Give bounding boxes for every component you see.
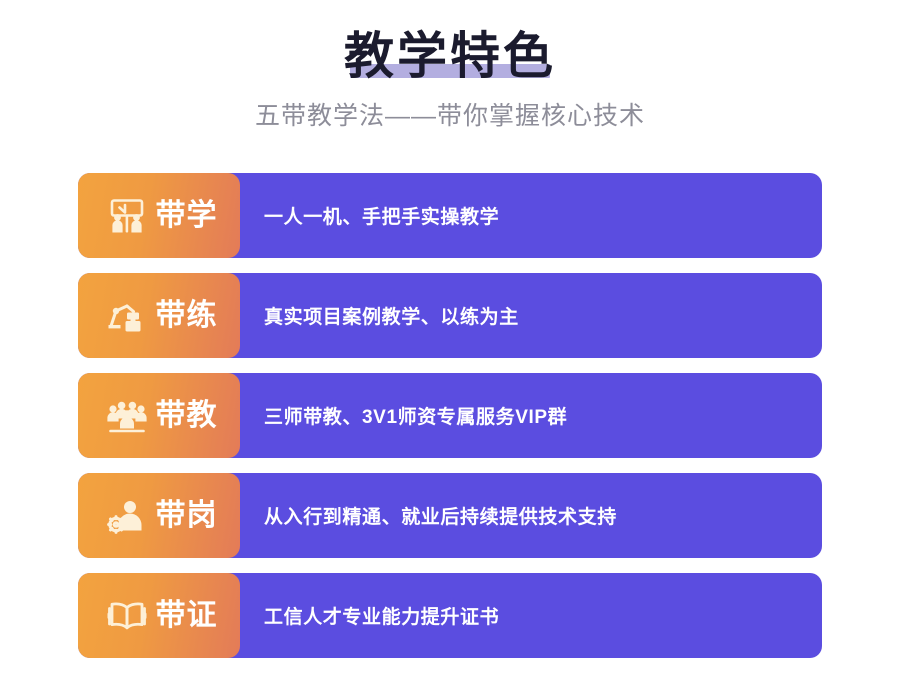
feature-row[interactable]: 三师带教、3V1师资专属服务VIP群 [78,373,822,458]
page-title-wrap: 教学特色 [344,28,556,84]
robot-arm-icon [105,294,149,338]
feature-badge-label: 带练 [156,301,218,331]
feature-list: 一人一机、手把手实操教学 [78,173,822,658]
feature-description: 工信人才专业能力提升证书 [264,573,499,658]
feature-row[interactable]: 从入行到精通、就业后持续提供技术支持 [78,473,822,558]
feature-row[interactable]: 真实项目案例教学、以练为主 [78,273,822,358]
feature-badge-label: 带学 [156,201,218,231]
feature-badge: 带练 [78,273,240,358]
feature-description: 一人一机、手把手实操教学 [264,173,499,258]
feature-description: 从入行到精通、就业后持续提供技术支持 [264,473,617,558]
open-book-icon [105,594,149,638]
feature-poster: 教学特色 五带教学法——带你掌握核心技术 一人一机、手把手实操教学 [0,0,900,692]
feature-badge: 带岗 [78,473,240,558]
person-with-gear-icon [105,494,149,538]
feature-badge-label: 带证 [156,601,218,631]
page-subtitle: 五带教学法——带你掌握核心技术 [0,96,900,132]
feature-badge: 带教 [78,373,240,458]
page-title: 教学特色 [344,28,556,84]
group-of-people-icon [105,394,149,438]
feature-badge: 带学 [78,173,240,258]
feature-badge: 带证 [78,573,240,658]
poster-header: 教学特色 五带教学法——带你掌握核心技术 [0,0,900,132]
feature-row[interactable]: 一人一机、手把手实操教学 [78,173,822,258]
feature-badge-label: 带岗 [156,501,218,531]
teaching-two-people-icon [105,194,149,238]
feature-badge-label: 带教 [156,401,218,431]
feature-description: 三师带教、3V1师资专属服务VIP群 [264,373,567,458]
feature-description: 真实项目案例教学、以练为主 [264,273,519,358]
feature-row[interactable]: 工信人才专业能力提升证书 [78,573,822,658]
